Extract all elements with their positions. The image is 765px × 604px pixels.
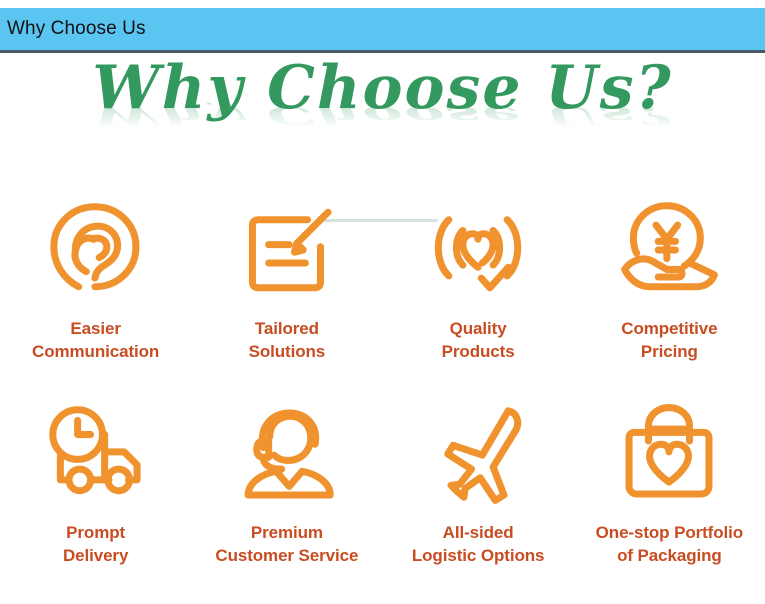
feature-grid: Easier Communication Tailored Solutions bbox=[0, 196, 765, 604]
feature-card-prompt-delivery: Prompt Delivery bbox=[0, 400, 191, 604]
feature-card-logistic-options: All-sided Logistic Options bbox=[383, 400, 574, 604]
heart-signal-check-icon bbox=[424, 196, 532, 304]
hero-wordmark: Why Choose Us? bbox=[0, 58, 765, 118]
hand-coin-yen-icon bbox=[615, 196, 723, 304]
feature-card-premium-customer-service: Premium Customer Service bbox=[191, 400, 382, 604]
page-title: Why Choose Us bbox=[0, 18, 146, 40]
feature-label: Prompt Delivery bbox=[63, 522, 128, 567]
feature-label: Premium Customer Service bbox=[215, 522, 358, 567]
hero-banner: Why Choose Us? Why Choose Us? bbox=[0, 56, 765, 174]
feature-label: Tailored Solutions bbox=[249, 318, 326, 363]
feature-card-packaging-portfolio: One-stop Portfolio of Packaging bbox=[574, 400, 765, 604]
feature-label: Quality Products bbox=[442, 318, 515, 363]
truck-clock-icon bbox=[42, 400, 150, 508]
feature-label: All-sided Logistic Options bbox=[412, 522, 545, 567]
feature-card-easier-communication: Easier Communication bbox=[0, 196, 191, 400]
feature-label: Competitive Pricing bbox=[621, 318, 717, 363]
feature-card-quality-products: Quality Products bbox=[383, 196, 574, 400]
feature-label: One-stop Portfolio of Packaging bbox=[596, 522, 743, 567]
feature-card-tailored-solutions: Tailored Solutions bbox=[191, 196, 382, 400]
feature-card-competitive-pricing: Competitive Pricing bbox=[574, 196, 765, 400]
document-pencil-icon bbox=[233, 196, 341, 304]
ear-listening-icon bbox=[42, 196, 150, 304]
airplane-icon bbox=[424, 400, 532, 508]
feature-label: Easier Communication bbox=[32, 318, 159, 363]
window-header-bar: Why Choose Us bbox=[0, 8, 765, 53]
headset-agent-icon bbox=[233, 400, 341, 508]
shopping-bag-heart-icon bbox=[615, 400, 723, 508]
